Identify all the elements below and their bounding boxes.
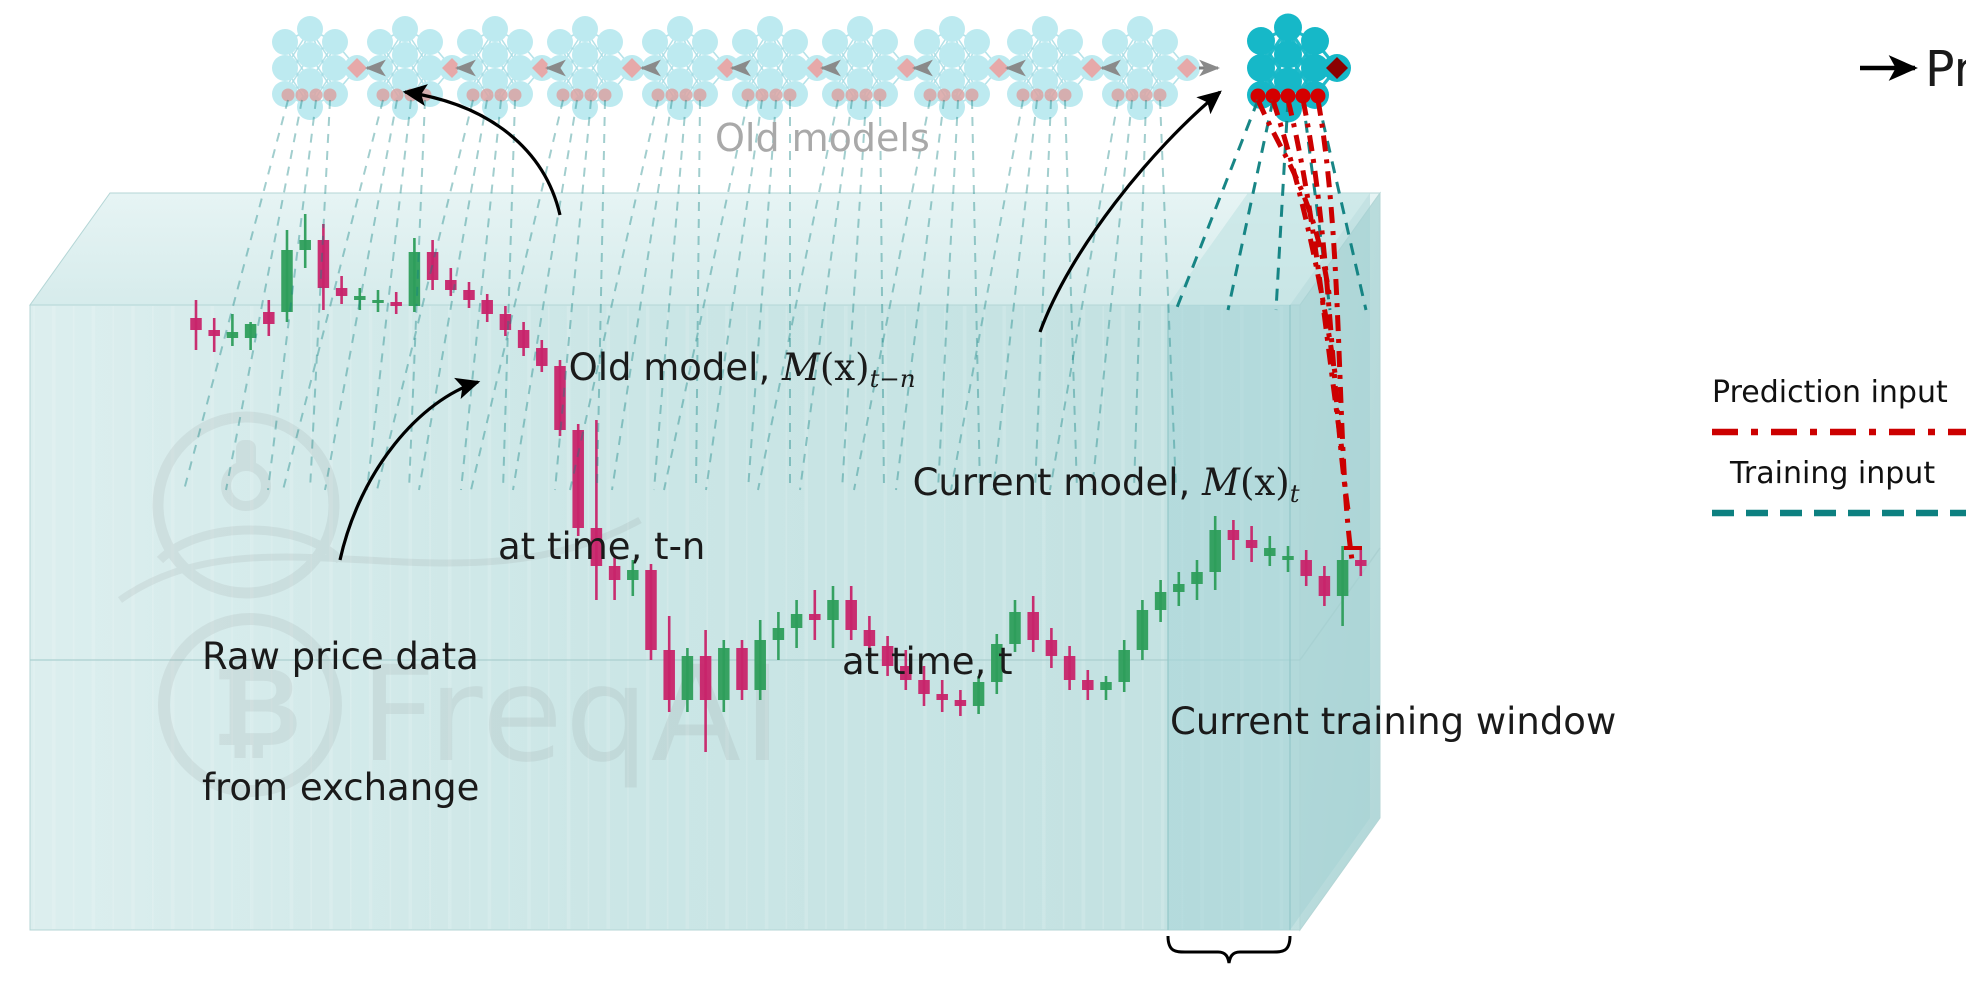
network-node: [507, 29, 533, 55]
candle-body: [190, 318, 202, 330]
candle-body: [1319, 576, 1331, 596]
network-node: [872, 29, 898, 55]
training-window-brace: [1168, 936, 1290, 963]
training-input-node: [1017, 89, 1030, 102]
current-model-annotation-prefix: Current model,: [913, 461, 1202, 504]
current-model-math-base: M: [1202, 461, 1240, 504]
network-node: [322, 29, 348, 55]
candle-body: [390, 302, 402, 306]
training-input-node: [585, 89, 598, 102]
network-node: [692, 29, 718, 55]
candle-body: [718, 648, 730, 700]
network-node: [822, 29, 848, 55]
network-node: [392, 42, 418, 68]
candle-body: [336, 288, 348, 296]
training-input-node: [784, 89, 797, 102]
candle-body: [318, 240, 330, 288]
network-node: [1127, 16, 1153, 42]
current-model-math-sub: t: [1290, 479, 1300, 508]
candle-body: [663, 650, 675, 700]
network-node: [1007, 29, 1033, 55]
training-input-node: [652, 89, 665, 102]
raw-price-annotation: Raw price data from exchange: [202, 548, 479, 897]
network-node: [847, 16, 873, 42]
legend-label-prediction-input: Prediction input: [1712, 375, 1948, 410]
training-input-node: [391, 89, 404, 102]
current-model-math-arg: (x): [1240, 461, 1290, 504]
candle-body: [463, 290, 475, 300]
network-node: [1032, 42, 1058, 68]
network-node: [1274, 41, 1302, 69]
candle-body: [227, 332, 239, 338]
candle-body: [354, 296, 366, 300]
network-node: [272, 55, 298, 81]
candle-body: [1355, 560, 1367, 566]
network-node: [1152, 29, 1178, 55]
training-input-node: [860, 89, 873, 102]
current-model-annotation-line2: at time, t: [842, 640, 1300, 684]
network-node: [482, 42, 508, 68]
network-node: [367, 29, 393, 55]
training-input-node: [874, 89, 887, 102]
network-node: [1274, 14, 1302, 42]
training-input-node: [282, 89, 295, 102]
training-input-node: [481, 89, 494, 102]
network-node: [757, 16, 783, 42]
training-input-node: [296, 89, 309, 102]
raw-price-annotation-line2: from exchange: [202, 766, 479, 810]
training-input-node: [1031, 89, 1044, 102]
network-node: [782, 29, 808, 55]
training-input-node: [1154, 89, 1167, 102]
network-node: [732, 29, 758, 55]
network-node: [1102, 29, 1128, 55]
network-node: [417, 29, 443, 55]
candle-body: [372, 300, 384, 303]
training-input-node: [310, 89, 323, 102]
network-node: [572, 16, 598, 42]
candle-body: [1300, 560, 1312, 576]
network-node: [1301, 27, 1329, 55]
training-input-node: [1059, 89, 1072, 102]
training-input-node: [756, 89, 769, 102]
network-node: [297, 16, 323, 42]
training-input-node: [966, 89, 979, 102]
training-input-node: [846, 89, 859, 102]
training-input-node: [377, 89, 390, 102]
network-node: [642, 55, 668, 81]
prediction-label: Prediction: [1925, 41, 1966, 99]
training-input-node: [680, 89, 693, 102]
network-node: [297, 42, 323, 68]
network-node: [392, 16, 418, 42]
network-node: [757, 42, 783, 68]
training-input-node: [770, 89, 783, 102]
old-model-annotation-prefix: Old model,: [569, 346, 782, 389]
diagram-canvas: ₿ FreqAI Old models Prediction: [0, 0, 1966, 981]
network-node: [964, 29, 990, 55]
candle-body: [263, 312, 275, 324]
network-node: [547, 29, 573, 55]
training-input-node: [509, 89, 522, 102]
network-node: [457, 29, 483, 55]
training-input-node: [1045, 89, 1058, 102]
current-training-window-label: Current training window: [1170, 700, 1616, 744]
training-input-node: [324, 89, 337, 102]
candle-body: [1337, 560, 1349, 596]
training-input-node: [832, 89, 845, 102]
model-network-row: [272, 14, 1351, 123]
network-node: [667, 42, 693, 68]
training-input-node: [599, 89, 612, 102]
training-input-node: [694, 89, 707, 102]
training-input-node: [952, 89, 965, 102]
raw-price-annotation-line1: Raw price data: [202, 635, 479, 679]
network-node: [1247, 27, 1275, 55]
training-input-node: [938, 89, 951, 102]
candle-body: [700, 656, 712, 700]
network-node: [667, 16, 693, 42]
candle-body: [682, 656, 694, 700]
network-node: [1057, 29, 1083, 55]
training-input-node: [1112, 89, 1125, 102]
network-node: [1127, 42, 1153, 68]
candle-body: [481, 300, 493, 314]
training-input-node: [666, 89, 679, 102]
network-node: [642, 29, 668, 55]
training-input-node: [495, 89, 508, 102]
training-input-node: [557, 89, 570, 102]
old-models-label: Old models: [715, 116, 930, 161]
network-node: [1247, 54, 1275, 82]
training-input-node: [924, 89, 937, 102]
network-node: [914, 29, 940, 55]
network-node: [272, 29, 298, 55]
training-input-node: [467, 89, 480, 102]
network-node: [482, 16, 508, 42]
legend-label-training-input: Training input: [1730, 456, 1935, 491]
training-input-node: [742, 89, 755, 102]
candle-body: [208, 330, 220, 336]
network-node: [847, 42, 873, 68]
candle-body: [299, 240, 311, 250]
candle-body: [245, 324, 257, 338]
network-node: [367, 55, 393, 81]
training-input-node: [571, 89, 584, 102]
network-node: [1032, 16, 1058, 42]
network-node: [572, 42, 598, 68]
network-node: [939, 42, 965, 68]
network-node: [939, 16, 965, 42]
network-node: [597, 29, 623, 55]
network-node: [1102, 55, 1128, 81]
training-input-node: [1140, 89, 1153, 102]
old-model-math-base: M: [782, 346, 820, 389]
training-input-node: [1126, 89, 1139, 102]
